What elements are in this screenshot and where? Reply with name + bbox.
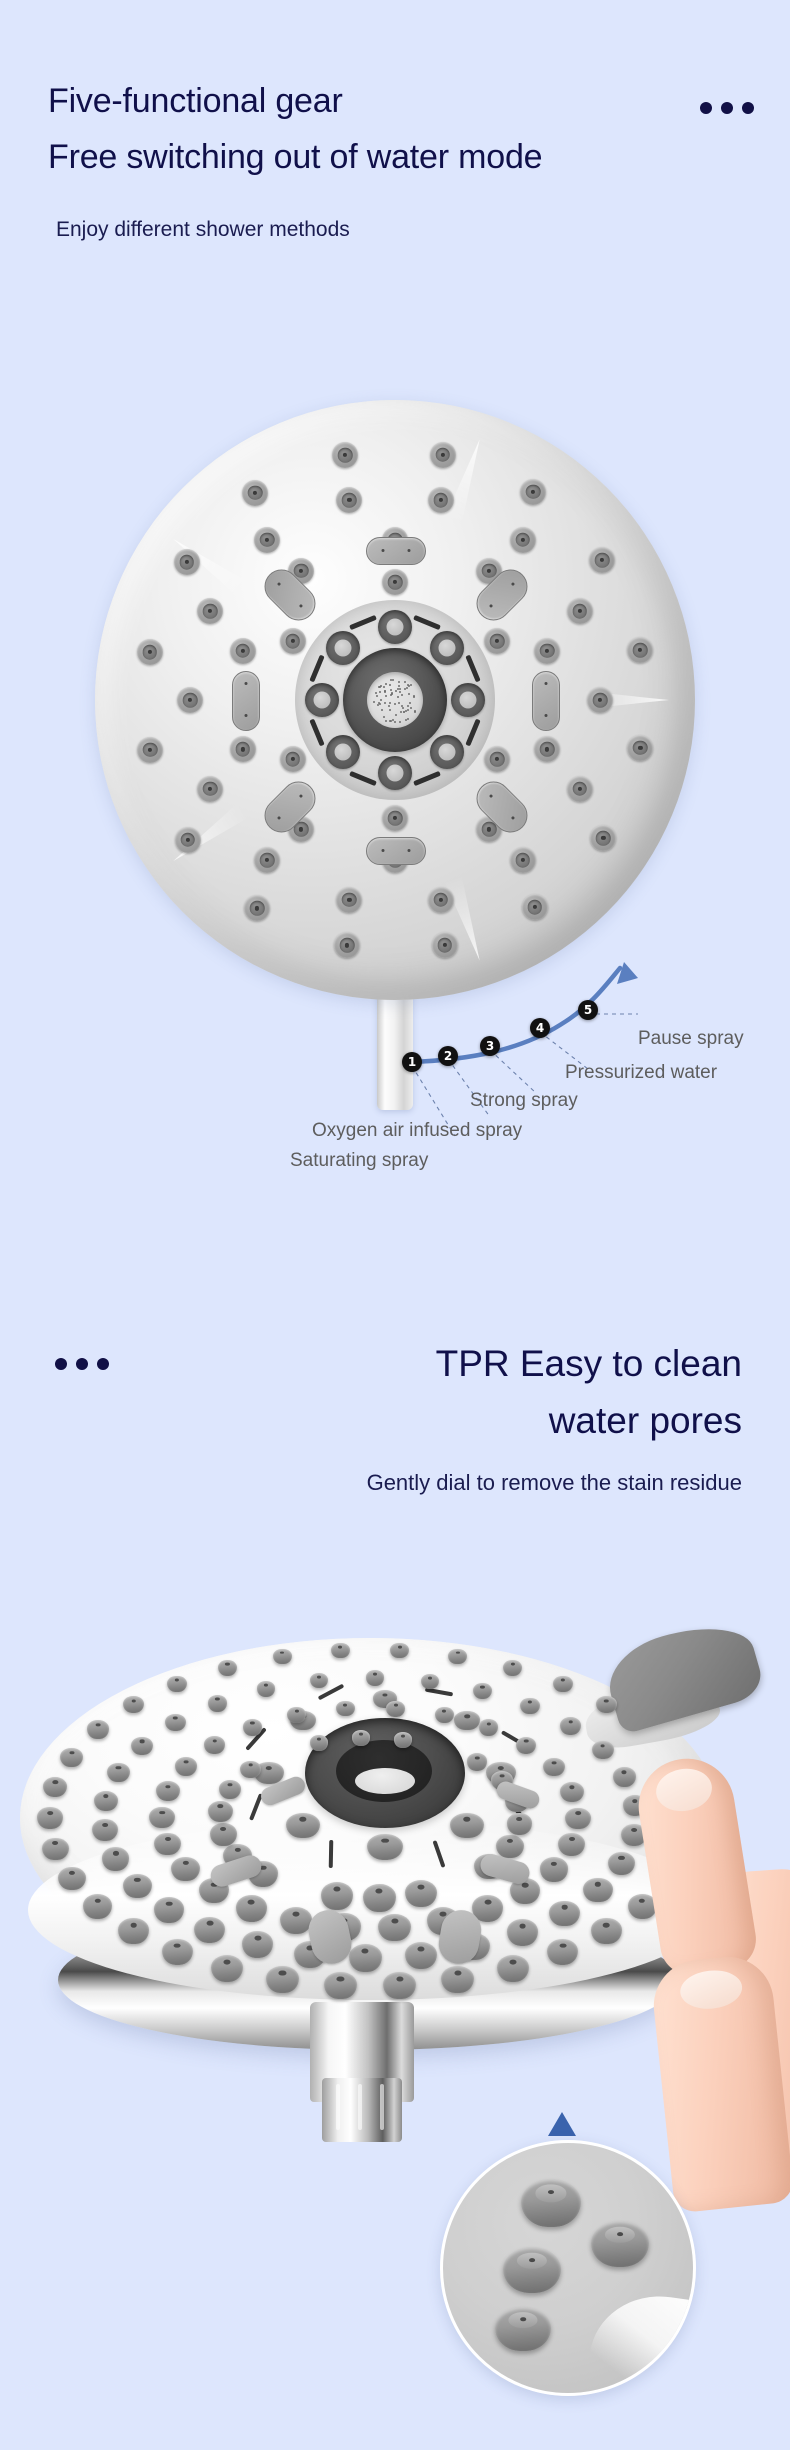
- tpr-nozzle: [349, 1944, 381, 1971]
- spray-nozzle: [627, 735, 653, 761]
- tpr-nozzle: [366, 1670, 384, 1685]
- tpr-nozzle: [94, 1791, 118, 1812]
- spray-nozzle: [175, 827, 201, 853]
- tpr-nozzle: [287, 1707, 306, 1723]
- tpr-nozzle: [473, 1683, 492, 1699]
- tpr-nozzle: [394, 1732, 412, 1748]
- tpr-nozzle: [331, 1643, 349, 1658]
- mist-hole: [385, 683, 387, 685]
- tpr-nozzle: [497, 1955, 529, 1982]
- mist-hole: [383, 716, 385, 718]
- spray-nozzle: [510, 847, 536, 873]
- spray-nozzle: [177, 687, 203, 713]
- tpr-nozzle: [467, 1753, 487, 1770]
- spray-nozzle: [484, 746, 510, 772]
- hub-ring-nozzle: [451, 683, 485, 717]
- section-one-header: Five-functional gear Free switching out …: [0, 0, 790, 300]
- tpr-nozzle: [83, 1894, 112, 1919]
- spray-nozzle: [567, 776, 593, 802]
- hub-ring-nozzle-perspective: [286, 1813, 320, 1838]
- spray-nozzle: [522, 894, 548, 920]
- fingernail-two: [678, 1967, 744, 2011]
- mist-hole: [414, 711, 416, 713]
- spray-nozzle: [242, 480, 268, 506]
- spray-nozzle: [520, 479, 546, 505]
- tpr-nozzle: [149, 1807, 174, 1828]
- center-mist-plate: [367, 672, 423, 728]
- tpr-nozzle: [210, 1823, 237, 1846]
- tpr-nozzle: [42, 1838, 69, 1861]
- tpr-nozzle: [58, 1867, 86, 1891]
- spray-nozzle: [332, 442, 358, 468]
- spray-nozzle: [510, 527, 536, 553]
- section-two-subtitle: Gently dial to remove the stain residue: [367, 1470, 742, 1496]
- center-mist-plate-perspective: [355, 1768, 415, 1794]
- tpr-nozzle: [496, 1835, 524, 1859]
- tpr-nozzle: [208, 1695, 227, 1711]
- tpr-nozzle: [390, 1643, 408, 1658]
- tpr-nozzle: [378, 1914, 410, 1941]
- tpr-nozzle: [383, 1972, 415, 1999]
- tpr-pill-nozzle: [366, 537, 426, 565]
- mode-label-3: Strong spray: [470, 1090, 578, 1112]
- tpr-nozzle-zoom: [521, 2179, 581, 2227]
- fingernail: [653, 1765, 715, 1815]
- hub-ring-nozzle-perspective: [450, 1813, 484, 1838]
- tpr-nozzle: [405, 1880, 437, 1907]
- mode-label-5: Pause spray: [638, 1028, 744, 1050]
- mist-hole: [380, 685, 382, 687]
- mode-label-4: Pressurized water: [565, 1062, 717, 1084]
- mist-hole: [398, 681, 400, 683]
- spray-nozzle: [534, 638, 560, 664]
- hub-ring-nozzle: [430, 631, 464, 665]
- tpr-nozzle: [107, 1763, 130, 1782]
- mist-hole: [405, 719, 407, 721]
- mist-hole: [395, 714, 397, 716]
- spray-nozzle: [254, 527, 280, 553]
- three-dots-icon: [700, 102, 754, 114]
- hub-ring-nozzle: [378, 756, 412, 790]
- spray-nozzle: [627, 637, 653, 663]
- tpr-nozzle: [165, 1714, 185, 1731]
- mist-hole: [404, 681, 406, 683]
- mist-hole: [413, 695, 415, 697]
- mode-label-1: Saturating spray: [290, 1150, 428, 1172]
- shower-stem-lower: [322, 2078, 402, 2142]
- section-one-subtitle: Enjoy different shower methods: [56, 218, 350, 242]
- mode-label-2: Oxygen air infused spray: [312, 1120, 522, 1142]
- tpr-nozzle: [208, 1801, 233, 1822]
- tpr-nozzle: [204, 1736, 225, 1753]
- tpr-nozzle: [503, 1660, 522, 1676]
- spray-nozzle: [484, 628, 510, 654]
- tpr-nozzle: [507, 1919, 538, 1945]
- mist-hole: [375, 692, 377, 694]
- mist-hole: [398, 702, 400, 704]
- tpr-nozzle: [441, 1966, 473, 1993]
- tpr-nozzle: [273, 1649, 291, 1665]
- spray-nozzle: [280, 628, 306, 654]
- tpr-nozzle: [321, 1882, 353, 1909]
- spray-nozzle: [137, 737, 163, 763]
- mist-hole: [398, 685, 400, 687]
- mode-badge-5: 5: [578, 1000, 598, 1020]
- spray-nozzle: [587, 687, 613, 713]
- tpr-nozzle: [92, 1819, 118, 1841]
- tpr-nozzle: [175, 1757, 197, 1776]
- tpr-nozzle: [280, 1907, 312, 1934]
- tpr-pill-nozzle: [532, 671, 560, 731]
- tpr-nozzle: [405, 1942, 437, 1969]
- hub-ring-nozzle-perspective: [454, 1711, 479, 1729]
- spray-nozzle: [137, 639, 163, 665]
- mist-hole: [389, 684, 391, 686]
- tpr-nozzle: [211, 1955, 243, 1982]
- tpr-nozzle: [123, 1696, 144, 1713]
- tpr-nozzle: [102, 1847, 129, 1870]
- tpr-nozzle-zoom: [591, 2221, 649, 2267]
- mode-badge-2: 2: [438, 1046, 458, 1066]
- mist-hole: [407, 718, 409, 720]
- hub-ring-nozzle: [430, 735, 464, 769]
- tpr-nozzle: [194, 1917, 225, 1943]
- tpr-nozzle: [435, 1707, 454, 1723]
- three-dots-icon-secondary: [55, 1358, 109, 1370]
- tpr-nozzle: [218, 1660, 237, 1676]
- tpr-pill-nozzle: [232, 671, 260, 731]
- tpr-nozzle: [167, 1676, 187, 1693]
- mist-hole: [389, 702, 391, 704]
- tpr-nozzle: [352, 1730, 370, 1745]
- spray-nozzle: [430, 442, 456, 468]
- section-two-headline-line1: TPR Easy to clean: [436, 1345, 742, 1382]
- tpr-nozzle-zoom: [495, 2307, 551, 2351]
- spray-nozzle: [428, 887, 454, 913]
- magnifier-callout: [440, 2140, 696, 2396]
- tpr-nozzle: [448, 1649, 466, 1665]
- triangle-pointer-icon: [548, 2112, 576, 2136]
- tpr-nozzle: [540, 1857, 569, 1881]
- mist-hole: [400, 711, 402, 713]
- hub-ring-nozzle-perspective: [367, 1834, 402, 1860]
- tpr-nozzle: [421, 1674, 439, 1690]
- tpr-nozzle: [386, 1701, 404, 1716]
- tpr-nozzle: [60, 1748, 83, 1767]
- tpr-nozzle: [154, 1897, 184, 1922]
- spray-nozzle: [428, 487, 454, 513]
- tpr-nozzle: [324, 1972, 356, 1999]
- tpr-nozzle: [520, 1698, 540, 1715]
- tpr-nozzle: [516, 1737, 537, 1754]
- tpr-nozzle: [243, 1719, 262, 1735]
- tpr-nozzle: [363, 1884, 395, 1911]
- tpr-nozzle: [131, 1737, 153, 1755]
- tpr-nozzle: [219, 1780, 242, 1799]
- section-one-headline-line2: Free switching out of water mode: [48, 140, 542, 174]
- mode-badge-1: 1: [402, 1052, 422, 1072]
- mist-hole: [389, 709, 391, 711]
- tpr-nozzle: [336, 1701, 354, 1716]
- shower-head-front-view: [95, 400, 695, 1000]
- magnifier-highlight: [584, 2287, 696, 2396]
- tpr-nozzle: [123, 1874, 152, 1898]
- tpr-pill-nozzle: [366, 837, 426, 865]
- hub-ring-nozzle: [378, 610, 412, 644]
- tpr-nozzle: [310, 1735, 329, 1751]
- tpr-nozzle-zoom: [503, 2247, 561, 2293]
- tpr-nozzle: [171, 1857, 200, 1881]
- tpr-nozzle: [162, 1939, 193, 1965]
- product-detail-page: Five-functional gear Free switching out …: [0, 0, 790, 2450]
- tpr-nozzle: [118, 1918, 148, 1944]
- tpr-nozzle: [87, 1720, 109, 1738]
- middle-finger: [649, 1952, 790, 2213]
- spray-nozzle: [567, 598, 593, 624]
- mist-hole: [399, 721, 401, 723]
- hub-ring-nozzle: [326, 735, 360, 769]
- tpr-nozzle: [266, 1966, 298, 1993]
- mode-badge-3: 3: [480, 1036, 500, 1056]
- index-finger: [632, 1752, 760, 1979]
- tpr-nozzle: [479, 1719, 498, 1735]
- mist-hole: [399, 691, 401, 693]
- spray-nozzle: [174, 549, 200, 575]
- hub-ring-nozzle: [305, 683, 339, 717]
- spray-nozzle: [280, 746, 306, 772]
- spray-nozzle: [230, 638, 256, 664]
- spray-nozzle: [382, 805, 408, 831]
- spray-nozzle: [382, 569, 408, 595]
- section-one-headline-line1: Five-functional gear: [48, 84, 343, 118]
- tpr-nozzle: [236, 1895, 267, 1921]
- mist-hole: [404, 688, 406, 690]
- section-two-headline-line2: water pores: [549, 1402, 742, 1439]
- tpr-nozzle: [37, 1807, 62, 1828]
- mode-badge-4: 4: [530, 1018, 550, 1038]
